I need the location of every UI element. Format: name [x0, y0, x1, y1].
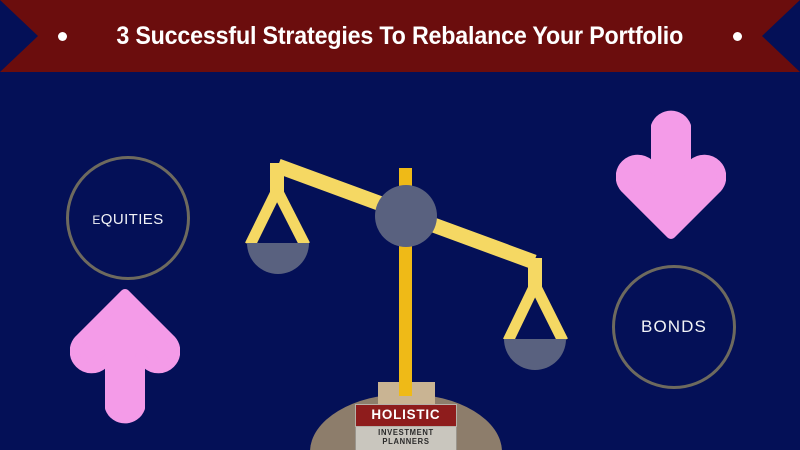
logo-brand-name: HOLISTIC [372, 406, 441, 422]
scale-right-hanger-b [535, 285, 563, 341]
bullet-dot-right-icon [733, 32, 742, 41]
scale-right-pan [504, 339, 566, 370]
scale-left-pan [247, 243, 309, 274]
holistic-investment-planners-logo: HOLISTIC INVESTMENT PLANNERS [355, 404, 457, 450]
infographic-canvas: HOLISTIC INVESTMENT PLANNERS Equities BO… [0, 0, 800, 450]
scale-right-hanger-a [508, 285, 535, 341]
bullet-dot-left-icon [58, 32, 67, 41]
arrow-up-icon [70, 288, 180, 428]
scale-left-hanger-b [277, 190, 305, 245]
scale-left-hanger-a [250, 190, 277, 245]
equities-label-circle: Equities [66, 156, 190, 280]
bonds-label-circle: BONDS [612, 265, 736, 389]
logo-top-plate: HOLISTIC [355, 404, 457, 427]
title-banner-content: 3 Successful Strategies To Rebalance You… [0, 0, 800, 72]
logo-bottom-plate: INVESTMENT PLANNERS [355, 427, 457, 450]
scale-pivot [375, 185, 437, 247]
logo-tagline: INVESTMENT PLANNERS [359, 428, 454, 446]
bonds-label-text: BONDS [641, 317, 707, 337]
equities-label-text: Equities [92, 206, 163, 230]
page-title: 3 Successful Strategies To Rebalance You… [117, 22, 684, 51]
arrow-down-icon [616, 110, 726, 240]
